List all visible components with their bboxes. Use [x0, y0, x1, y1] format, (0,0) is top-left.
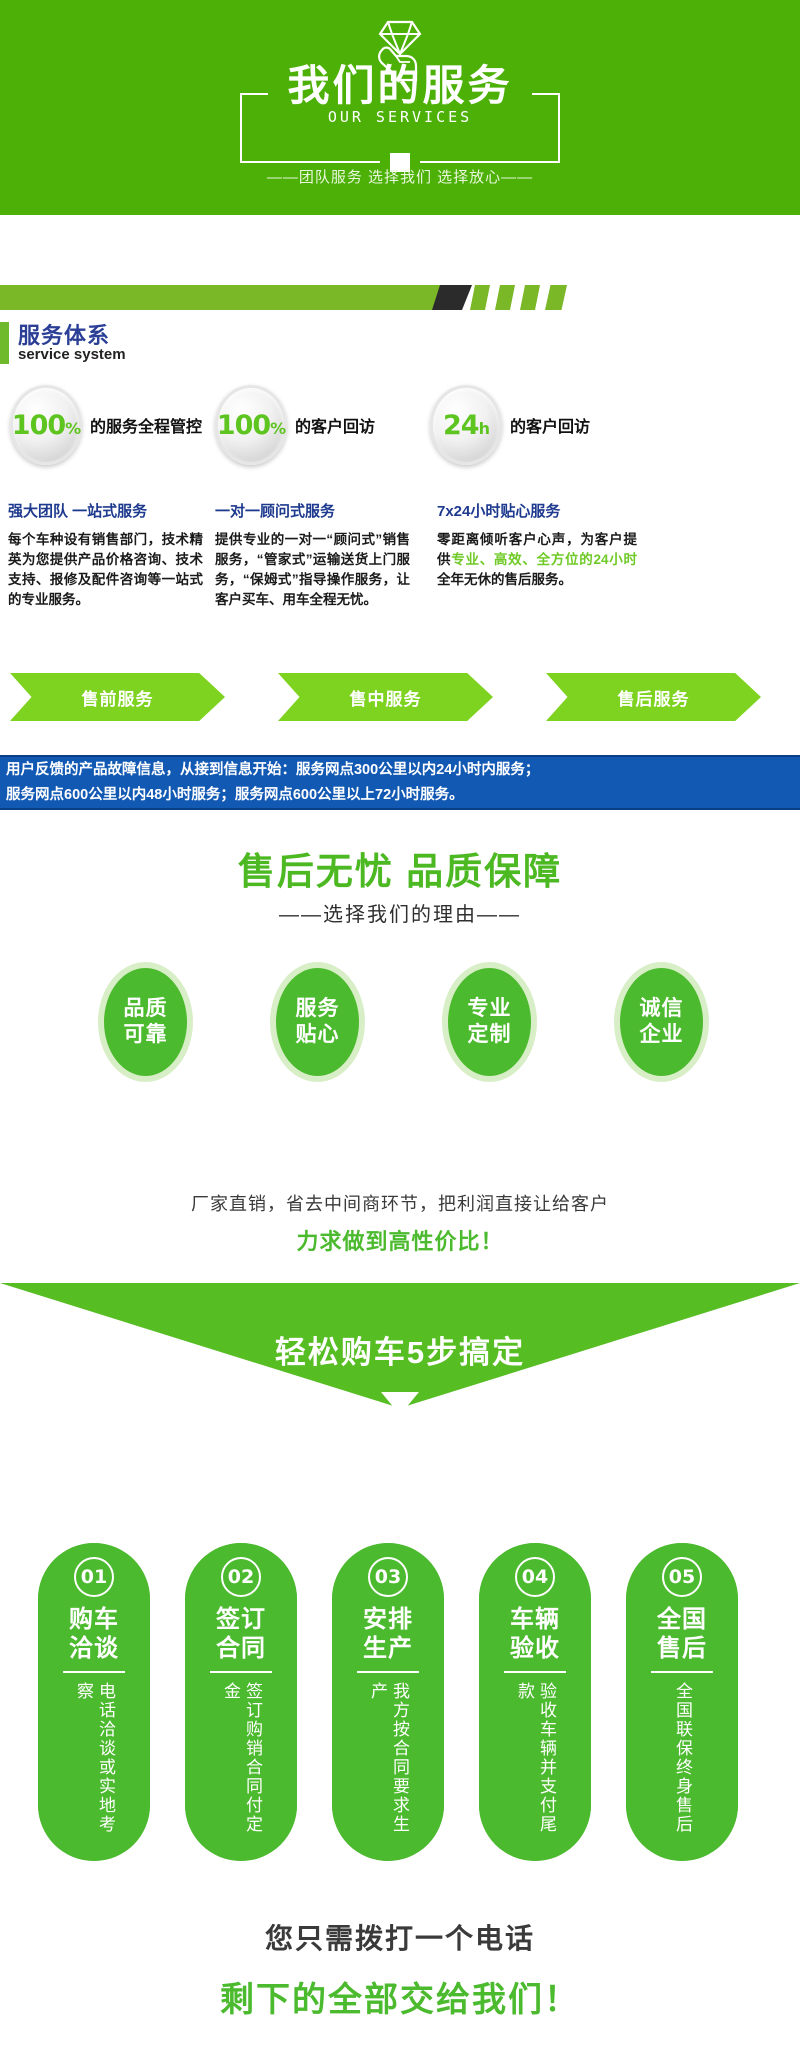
badge-number: 100% — [217, 410, 285, 441]
arrow-steps-row: 售前服务 售中服务 售后服务 — [0, 673, 800, 721]
hero-section: 我们的服务 OUR SERVICES ——团队服务 选择我们 选择放心—— — [0, 0, 800, 215]
reason-line-1: 服务 — [296, 996, 340, 1022]
reason-oval: 品质 可靠 — [98, 962, 193, 1082]
badge-item: 24h 的客户回访 — [430, 385, 680, 465]
system-decorative-bar — [0, 285, 800, 310]
system-title-en: service system — [18, 346, 126, 363]
step-number: 03 — [368, 1557, 408, 1597]
policy-line-1: 用户反馈的产品故障信息，从接到信息开始：服务网点300公里以内24小时内服务； — [6, 758, 794, 783]
step-divider — [504, 1671, 566, 1673]
down-triangle-icon — [381, 1392, 419, 1415]
guarantee-title: 售后无忧 品质保障 — [0, 841, 800, 895]
reason-oval: 服务 贴心 — [270, 962, 365, 1082]
badge-circle: 100% — [215, 385, 287, 465]
purchase-step-card[interactable]: 03 安排生产 我方按合同要求生产 — [332, 1543, 444, 1861]
column-heading: 强大团队 一站式服务 — [8, 500, 203, 521]
step-title: 安排生产 — [363, 1605, 413, 1663]
chevron-title: 轻松购车5步搞定 — [0, 1327, 800, 1372]
step-divider — [651, 1671, 713, 1673]
service-column: 强大团队 一站式服务 每个车种设有销售部门，技术精英为您提供产品价格咨询、技术支… — [8, 500, 203, 610]
page-subtitle: OUR SERVICES — [328, 108, 472, 126]
column-heading: 一对一顾问式服务 — [215, 500, 410, 521]
arrow-step-presale[interactable]: 售前服务 — [10, 673, 225, 721]
footer-line-1: 您只需拨打一个电话 — [0, 1917, 800, 1957]
hero-tagline: ——团队服务 选择我们 选择放心—— — [267, 166, 533, 187]
badge-number: 100% — [12, 410, 80, 441]
policy-line-2: 服务网点600公里以内48小时服务；服务网点600公里以上72小时服务。 — [6, 783, 794, 808]
step-title: 签订合同 — [216, 1605, 266, 1663]
service-column: 7x24小时贴心服务 零距离倾听客户心声，为客户提供专业、高效、全方位的24小时… — [437, 500, 637, 590]
reason-line-1: 品质 — [124, 996, 168, 1022]
reasons-row: 品质 可靠 服务 贴心 专业 定制 诚信 企业 — [0, 962, 800, 1097]
badge-label: 的客户回访 — [295, 413, 375, 437]
step-title: 全国售后 — [657, 1605, 707, 1663]
arrow-step-aftersale[interactable]: 售后服务 — [546, 673, 761, 721]
step-title: 购车洽谈 — [69, 1605, 119, 1663]
accent-tick — [0, 322, 9, 364]
step-title: 车辆验收 — [510, 1605, 560, 1663]
step-description: 签订购销合同付定金 — [219, 1682, 263, 1847]
footer-line-2: 剩下的全部交给我们！ — [0, 1972, 800, 2021]
column-body: 零距离倾听客户心声，为客户提供专业、高效、全方位的24小时全年无休的售后服务。 — [437, 530, 637, 590]
reason-oval: 专业 定制 — [442, 962, 537, 1082]
badge-circle: 100% — [10, 385, 82, 465]
step-number: 04 — [515, 1557, 555, 1597]
service-column: 一对一顾问式服务 提供专业的一对一“顾问式”销售服务，“管家式”运输送货上门服务… — [215, 500, 410, 610]
badge-circle: 24h — [430, 385, 502, 465]
guarantee-subtitle: ——选择我们的理由—— — [0, 898, 800, 927]
reason-line-2: 可靠 — [124, 1022, 168, 1048]
step-divider — [357, 1671, 419, 1673]
step-description: 我方按合同要求生产 — [366, 1682, 410, 1847]
column-highlight: 专业、高效、全方位的24小时 — [451, 552, 637, 567]
blue-policy-banner: 用户反馈的产品故障信息，从接到信息开始：服务网点300公里以内24小时内服务； … — [0, 755, 800, 810]
step-number: 01 — [74, 1557, 114, 1597]
page-title: 我们的服务 — [287, 52, 512, 113]
step-number: 02 — [221, 1557, 261, 1597]
reason-line-2: 定制 — [468, 1022, 512, 1048]
step-description: 验收车辆并支付尾款 — [513, 1682, 557, 1847]
purchase-step-card[interactable]: 05 全国售后 全国联保终身售后 — [626, 1543, 738, 1861]
reason-line-2: 企业 — [640, 1022, 684, 1048]
step-divider — [63, 1671, 125, 1673]
step-description: 电话洽谈或实地考察 — [72, 1682, 116, 1847]
column-heading: 7x24小时贴心服务 — [437, 500, 637, 521]
badge-number: 24h — [443, 410, 489, 441]
step-description: 全国联保终身售后 — [671, 1682, 693, 1847]
arrow-step-insale[interactable]: 售中服务 — [278, 673, 493, 721]
system-section-label: 服务体系 service system — [0, 318, 800, 366]
step-divider — [210, 1671, 272, 1673]
deal-line-1: 厂家直销，省去中间商环节，把利润直接让给客户 — [0, 1190, 800, 1216]
reason-line-1: 诚信 — [640, 996, 684, 1022]
badge-label: 的服务全程管控 — [90, 413, 202, 437]
column-body: 每个车种设有销售部门，技术精英为您提供产品价格咨询、技术支持、报修及配件咨询等一… — [8, 530, 203, 610]
badges-row: 100% 的服务全程管控 100% 的客户回访 24h 的客户回访 — [0, 385, 800, 495]
reason-line-1: 专业 — [468, 996, 512, 1022]
purchase-step-card[interactable]: 01 购车洽谈 电话洽谈或实地考察 — [38, 1543, 150, 1861]
deal-line-2: 力求做到高性价比！ — [0, 1224, 800, 1256]
purchase-steps: 01 购车洽谈 电话洽谈或实地考察 02 签订合同 签订购销合同付定金 03 安… — [0, 1543, 800, 1873]
reason-line-2: 贴心 — [296, 1022, 340, 1048]
column-body: 提供专业的一对一“顾问式”销售服务，“管家式”运输送货上门服务，“保姆式”指导操… — [215, 530, 410, 610]
badge-label: 的客户回访 — [510, 413, 590, 437]
reason-oval: 诚信 企业 — [614, 962, 709, 1082]
step-number: 05 — [662, 1557, 702, 1597]
badge-item: 100% 的客户回访 — [215, 385, 465, 465]
purchase-step-card[interactable]: 04 车辆验收 验收车辆并支付尾款 — [479, 1543, 591, 1861]
purchase-step-card[interactable]: 02 签订合同 签订购销合同付定金 — [185, 1543, 297, 1861]
